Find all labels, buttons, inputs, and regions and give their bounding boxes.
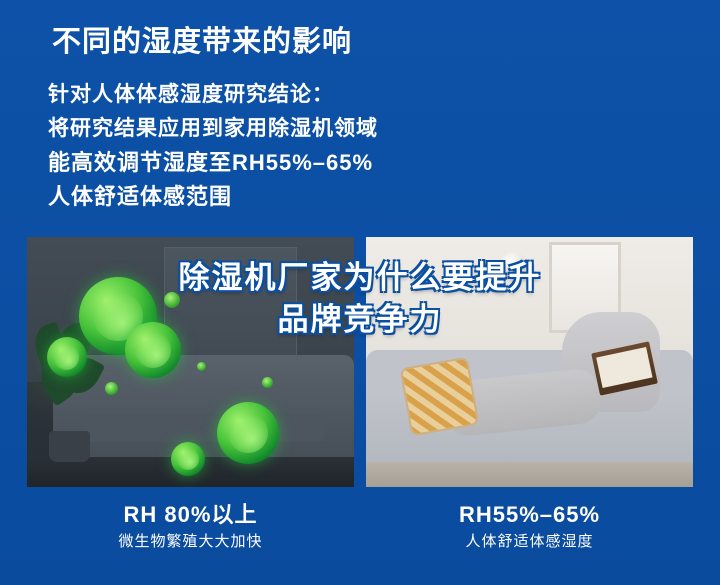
caption-left-title: RH 80%以上 (27, 500, 354, 530)
paragraph-line-3: 能高效调节湿度至RH55%–65% (48, 146, 668, 180)
photo-dark-room-with-mold (27, 237, 354, 487)
poster-page: 不同的湿度带来的影响 针对人体体感湿度研究结论： 将研究结果应用到家用除湿机领域… (0, 0, 720, 585)
mold-blob-icon (217, 402, 279, 464)
mold-blob-icon (125, 322, 181, 378)
patterned-cushion-shape (400, 356, 480, 436)
mold-blob-icon (171, 442, 205, 476)
photo-bright-room-person-reading (366, 237, 693, 487)
couch-cushion-shape (83, 414, 324, 443)
mold-spore-icon (197, 362, 206, 371)
paragraph-line-1: 针对人体体感湿度研究结论： (48, 78, 668, 112)
page-title: 不同的湿度带来的影响 (52, 18, 352, 60)
plant-pot-shape (49, 431, 89, 462)
caption-right-subtitle: 人体舒适体感湿度 (366, 530, 693, 554)
floor-shape (366, 462, 693, 487)
caption-left-subtitle: 微生物繁殖大大加快 (27, 530, 354, 554)
caption-left: RH 80%以上 微生物繁殖大大加快 (27, 500, 354, 570)
caption-right-title: RH55%–65% (366, 500, 693, 530)
wall-panel-shape (164, 247, 297, 364)
lamp-shape (500, 252, 526, 278)
intro-paragraph: 针对人体体感湿度研究结论： 将研究结果应用到家用除湿机领域 能高效调节湿度至RH… (48, 78, 668, 214)
paragraph-line-2: 将研究结果应用到家用除湿机领域 (48, 112, 668, 146)
photo-row (27, 237, 693, 487)
mold-blob-icon (47, 337, 87, 377)
caption-row: RH 80%以上 微生物繁殖大大加快 RH55%–65% 人体舒适体感湿度 (27, 500, 693, 570)
caption-right: RH55%–65% 人体舒适体感湿度 (366, 500, 693, 570)
paragraph-line-4: 人体舒适体感范围 (48, 180, 668, 214)
